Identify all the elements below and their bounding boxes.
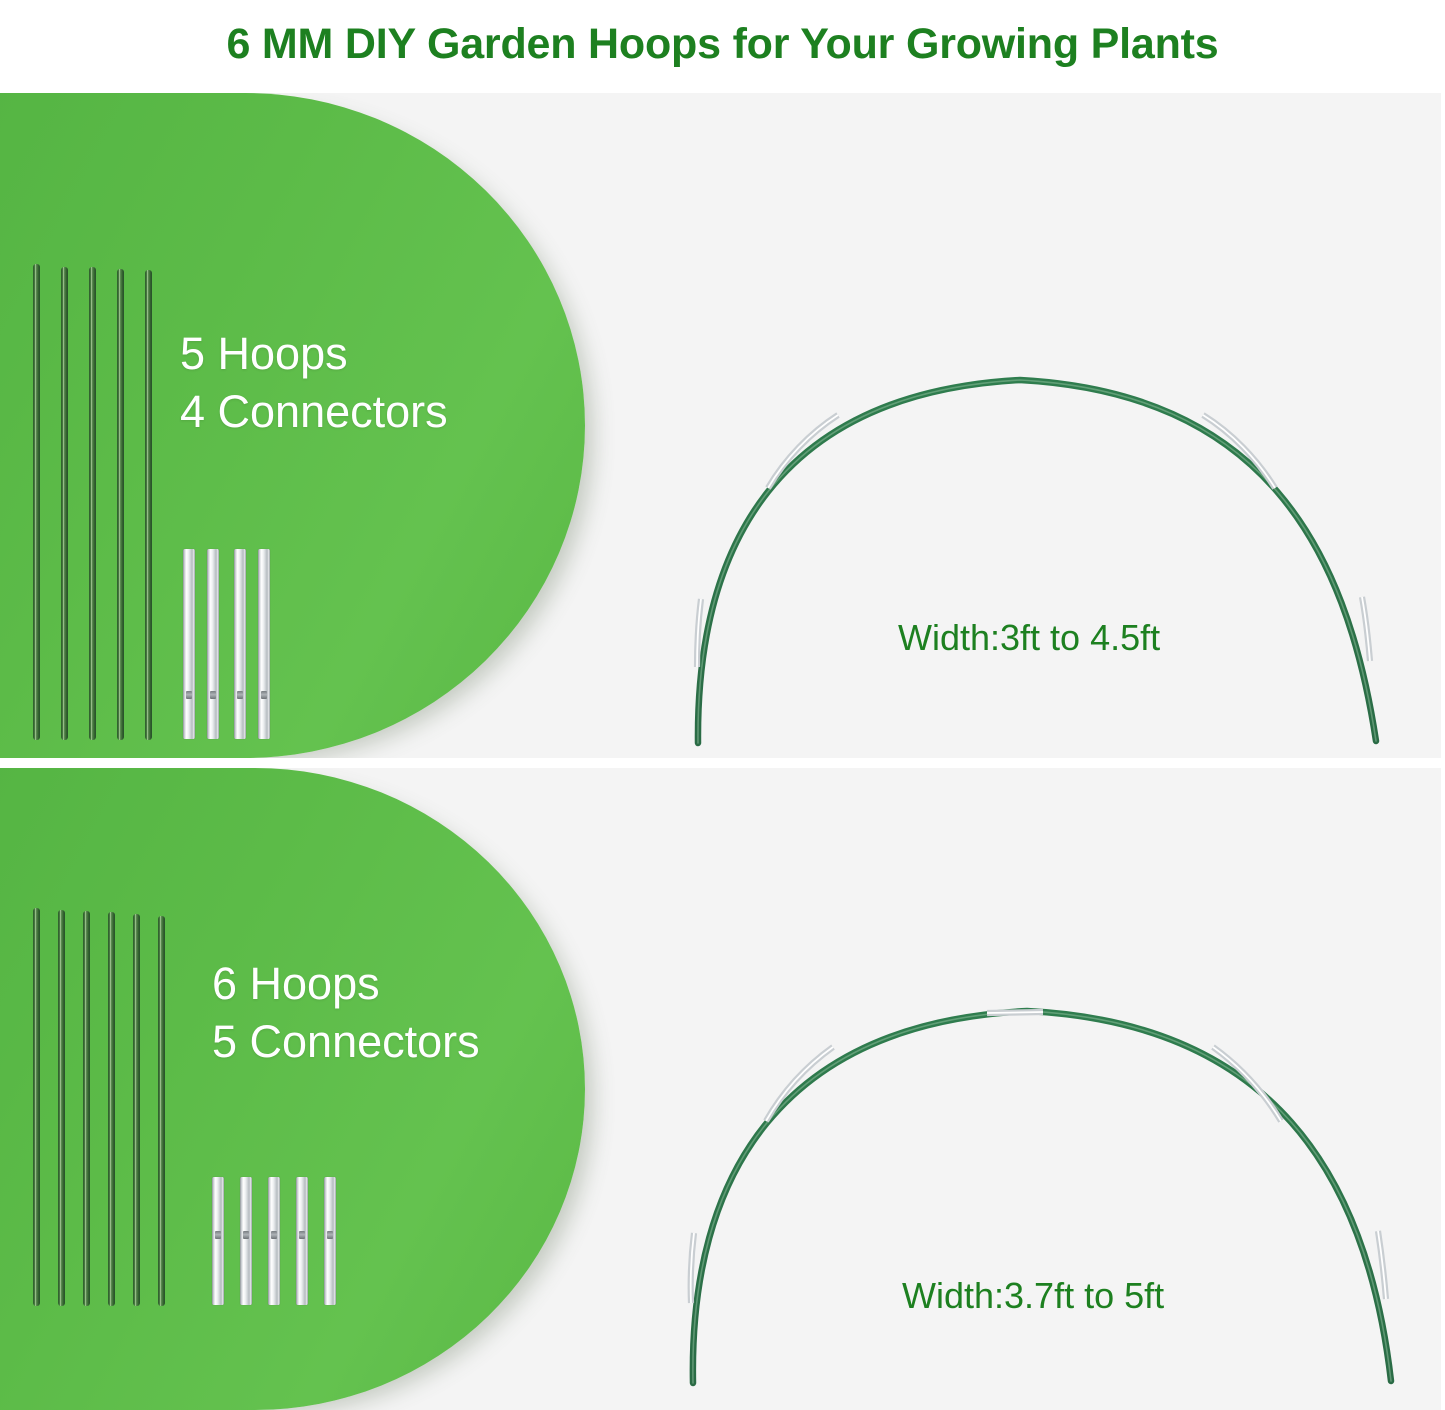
arch-width-label-top: Width:3ft to 4.5ft: [898, 620, 1160, 656]
arch-connector-segment: [691, 1233, 694, 1303]
arch-connector-shine: [697, 599, 701, 667]
metal-connector: [268, 1177, 280, 1305]
metal-connector: [258, 549, 270, 739]
connector-notch: [237, 691, 243, 699]
hoop-arch-illustration-bottom: [655, 873, 1435, 1403]
connector-notch: [186, 691, 192, 699]
arch-connector-shine: [1378, 1231, 1386, 1299]
arch-connector-shine: [768, 415, 838, 488]
hoop-rod: [108, 912, 115, 1306]
product-panel-top: 5 Hoops 4 Connectors Width:3ft to 4.5ft: [0, 93, 1441, 758]
hoop-rod: [158, 916, 165, 1306]
metal-connector: [207, 549, 219, 739]
metal-connector: [324, 1177, 336, 1305]
connector-notch: [271, 1231, 277, 1239]
header-bar: 6 MM DIY Garden Hoops for Your Growing P…: [0, 0, 1445, 88]
metal-connector: [212, 1177, 224, 1305]
arch-connector-segment: [766, 1047, 833, 1121]
hoop-rod: [145, 270, 152, 740]
arch-connector-segment: [697, 599, 701, 667]
arch-connector-shine: [691, 1233, 694, 1303]
connector-notch: [299, 1231, 305, 1239]
hoop-rod: [33, 264, 40, 740]
callout-line-hoops-top: 5 Hoops: [180, 325, 348, 383]
hoop-rod: [133, 914, 140, 1306]
arch-connector-segment: [1378, 1231, 1386, 1299]
arch-highlight-top: [698, 380, 1376, 743]
arch-connector-segment: [1203, 415, 1275, 488]
metal-connector: [183, 549, 195, 739]
arch-connector-shine: [987, 1012, 1043, 1013]
arch-tube-bottom: [693, 1011, 1391, 1383]
arch-highlight-bottom: [693, 1011, 1391, 1383]
hoop-rod: [58, 910, 65, 1306]
arch-connector-shine: [1362, 597, 1370, 661]
arch-connector-shine: [1213, 1047, 1281, 1121]
hoop-rod: [117, 269, 124, 740]
metal-connector: [240, 1177, 252, 1305]
hoop-arch-illustration-top: [660, 243, 1420, 758]
arch-width-label-bottom: Width:3.7ft to 5ft: [902, 1278, 1164, 1314]
hoop-rod: [83, 911, 90, 1306]
connector-notch: [261, 691, 267, 699]
arch-connector-shine: [766, 1047, 833, 1121]
metal-connector: [234, 549, 246, 739]
arch-connector-shine: [1203, 415, 1275, 488]
callout-line-hoops-bottom: 6 Hoops: [212, 955, 380, 1013]
metal-connector: [296, 1177, 308, 1305]
callout-line-connectors-top: 4 Connectors: [180, 383, 448, 441]
connector-notch: [243, 1231, 249, 1239]
page-title: 6 MM DIY Garden Hoops for Your Growing P…: [226, 23, 1218, 66]
arch-connector-segment: [1213, 1047, 1281, 1121]
connector-notch: [210, 691, 216, 699]
connector-notch: [215, 1231, 221, 1239]
arch-connector-segment: [768, 415, 838, 488]
connector-notch: [327, 1231, 333, 1239]
product-panel-bottom: 6 Hoops 5 Connectors Width:3.7ft to 5ft: [0, 768, 1441, 1410]
arch-connector-segment-apex: [987, 1012, 1043, 1013]
hoop-rod: [61, 267, 68, 740]
arch-connector-segment: [1362, 597, 1370, 661]
hoop-rod: [89, 267, 96, 740]
callout-line-connectors-bottom: 5 Connectors: [212, 1013, 480, 1071]
arch-tube-top: [698, 380, 1376, 743]
hoop-rod: [33, 908, 40, 1306]
